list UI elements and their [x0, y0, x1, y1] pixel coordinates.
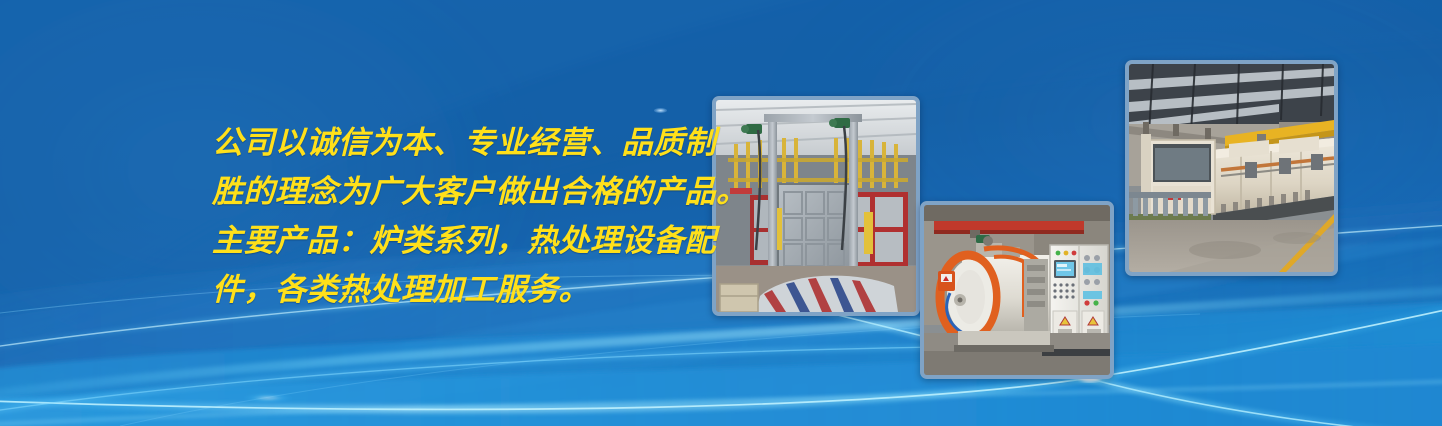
slogan-line-4: 件，各类热处理加工服务。: [212, 265, 712, 314]
photo-furnace-line-image: [1129, 64, 1334, 272]
photo-vacuum-furnace-image: [924, 205, 1110, 375]
sparkle-icon: [654, 108, 667, 113]
photo-furnace-line[interactable]: [1125, 60, 1338, 276]
company-slogan-banner: 公司以诚信为本、专业经营、品质制 胜的理念为广大客户做出合格的产品。 主要产品：…: [0, 0, 1442, 426]
slogan-line-3: 主要产品：炉类系列，热处理设备配: [212, 216, 712, 265]
slogan-line-1: 公司以诚信为本、专业经营、品质制: [212, 118, 712, 167]
slogan-text: 公司以诚信为本、专业经营、品质制 胜的理念为广大客户做出合格的产品。 主要产品：…: [212, 118, 712, 314]
photo-vacuum-furnace[interactable]: [920, 201, 1114, 379]
slogan-line-2: 胜的理念为广大客户做出合格的产品。: [212, 167, 712, 216]
